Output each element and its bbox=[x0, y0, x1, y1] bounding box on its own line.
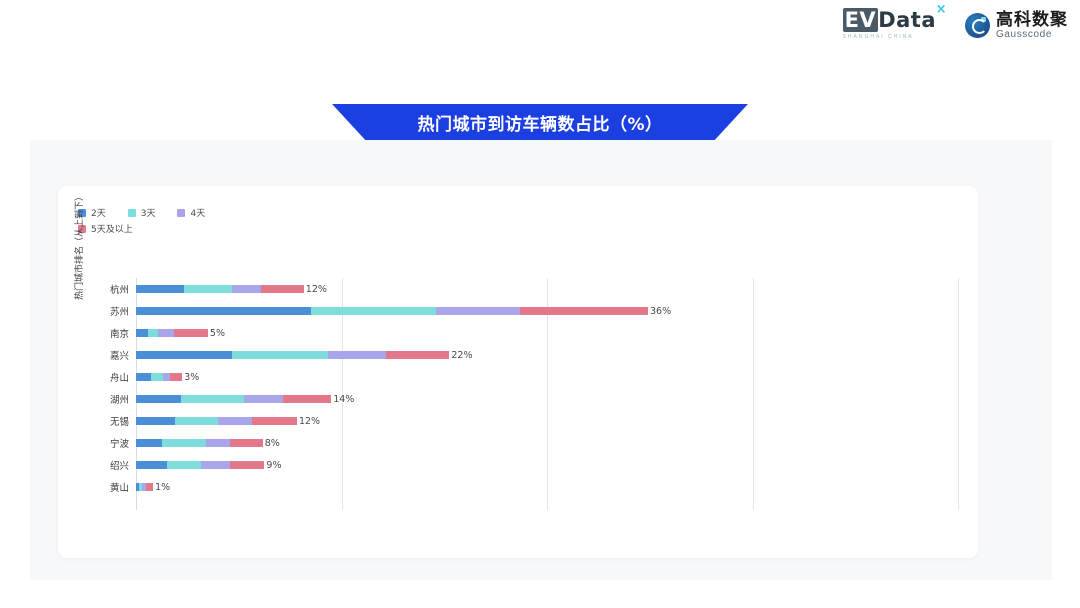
plot-area: 杭州12%苏州36%南京5%嘉兴22%舟山3%湖州14%无锡12%宁波8%绍兴9… bbox=[136, 278, 958, 518]
evdata-wordmark: EVData× bbox=[843, 10, 936, 31]
bar-segment[interactable] bbox=[174, 329, 208, 337]
gausscode-logo: 高科数聚 Gausscode bbox=[965, 11, 1068, 40]
stacked-bar[interactable] bbox=[136, 285, 304, 293]
y-axis-label: 杭州 bbox=[110, 282, 129, 296]
bar-segment[interactable] bbox=[218, 417, 252, 425]
gausscode-en-text: Gausscode bbox=[996, 30, 1068, 40]
y-axis-title: 热门城市排名（从上到下） bbox=[72, 176, 85, 316]
stacked-bar[interactable] bbox=[136, 417, 297, 425]
stacked-bar[interactable] bbox=[136, 373, 182, 381]
stacked-bar[interactable] bbox=[136, 329, 208, 337]
title-ribbon: 热门城市到访车辆数占比（%） bbox=[332, 104, 748, 140]
bar-value-label: 22% bbox=[451, 350, 472, 361]
bar-segment[interactable] bbox=[181, 395, 244, 403]
bar-segment[interactable] bbox=[163, 373, 170, 381]
bar-segment[interactable] bbox=[184, 285, 232, 293]
y-axis-label: 湖州 bbox=[110, 392, 129, 406]
evdata-tagline: SHANGHAI CHINA bbox=[843, 34, 914, 40]
stacked-bar[interactable] bbox=[136, 461, 264, 469]
bar-segment[interactable] bbox=[136, 395, 181, 403]
bar-value-label: 8% bbox=[265, 438, 280, 449]
stacked-bar[interactable] bbox=[136, 439, 263, 447]
bar-segment[interactable] bbox=[146, 483, 153, 491]
bar-segment[interactable] bbox=[201, 461, 230, 469]
legend-swatch-3days bbox=[128, 209, 136, 217]
bar-segment[interactable] bbox=[136, 439, 162, 447]
legend-row-1: 2天 3天 4天 bbox=[78, 206, 338, 219]
bar-value-label: 9% bbox=[266, 460, 281, 471]
stacked-bar[interactable] bbox=[136, 395, 331, 403]
bar-segment[interactable] bbox=[386, 351, 449, 359]
bar-row[interactable]: 嘉兴22% bbox=[136, 344, 958, 366]
y-axis-label: 南京 bbox=[110, 326, 129, 340]
legend-label-5days-plus: 5天及以上 bbox=[91, 222, 133, 235]
bar-value-label: 1% bbox=[155, 482, 170, 493]
y-axis-label: 嘉兴 bbox=[110, 348, 129, 362]
bar-row[interactable]: 南京5% bbox=[136, 322, 958, 344]
bar-value-label: 14% bbox=[333, 394, 354, 405]
y-axis-label: 黄山 bbox=[110, 480, 129, 494]
bar-segment[interactable] bbox=[167, 461, 201, 469]
gausscode-cn-text: 高科数聚 bbox=[996, 11, 1068, 28]
bar-value-label: 5% bbox=[210, 328, 225, 339]
bar-segment[interactable] bbox=[232, 351, 328, 359]
bar-value-label: 36% bbox=[650, 306, 671, 317]
bar-segment[interactable] bbox=[158, 329, 173, 337]
legend-item-3days[interactable]: 3天 bbox=[128, 206, 156, 219]
bar-row[interactable]: 绍兴9% bbox=[136, 454, 958, 476]
stacked-bar[interactable] bbox=[136, 307, 648, 315]
bar-segment[interactable] bbox=[244, 395, 283, 403]
y-axis-label: 苏州 bbox=[110, 304, 129, 318]
bar-segment[interactable] bbox=[436, 307, 520, 315]
legend-row-2: 5天及以上 bbox=[78, 222, 338, 235]
y-axis-label: 舟山 bbox=[110, 370, 129, 384]
bar-segment[interactable] bbox=[328, 351, 386, 359]
stacked-bar[interactable] bbox=[136, 351, 449, 359]
page-title: 热门城市到访车辆数占比（%） bbox=[417, 110, 662, 135]
bar-segment[interactable] bbox=[148, 329, 158, 337]
bar-segment[interactable] bbox=[175, 417, 218, 425]
y-axis-label: 无锡 bbox=[110, 414, 129, 428]
logo-divider bbox=[950, 12, 951, 38]
bar-segment[interactable] bbox=[136, 307, 311, 315]
bar-segment[interactable] bbox=[170, 373, 182, 381]
bar-segment[interactable] bbox=[136, 417, 175, 425]
legend-label-2days: 2天 bbox=[91, 206, 106, 219]
y-axis-label: 绍兴 bbox=[110, 458, 129, 472]
legend-item-5days-plus[interactable]: 5天及以上 bbox=[78, 222, 133, 235]
chart-legend: 2天 3天 4天 5天及以上 bbox=[78, 206, 338, 238]
bar-segment[interactable] bbox=[136, 461, 167, 469]
bar-segment[interactable] bbox=[206, 439, 230, 447]
bar-segment[interactable] bbox=[230, 439, 263, 447]
gridline-48 bbox=[958, 278, 959, 510]
bar-rows: 杭州12%苏州36%南京5%嘉兴22%舟山3%湖州14%无锡12%宁波8%绍兴9… bbox=[136, 278, 958, 498]
stacked-bar[interactable] bbox=[136, 483, 153, 491]
bar-segment[interactable] bbox=[261, 285, 304, 293]
bar-segment[interactable] bbox=[520, 307, 648, 315]
bar-value-label: 3% bbox=[184, 372, 199, 383]
bar-row[interactable]: 黄山1% bbox=[136, 476, 958, 498]
gausscode-mark-icon bbox=[965, 13, 990, 38]
evdata-ev-text: EV bbox=[843, 8, 879, 32]
bar-segment[interactable] bbox=[136, 351, 232, 359]
legend-item-4days[interactable]: 4天 bbox=[177, 206, 205, 219]
bar-segment[interactable] bbox=[136, 329, 148, 337]
bar-segment[interactable] bbox=[230, 461, 264, 469]
bar-segment[interactable] bbox=[283, 395, 331, 403]
bar-value-label: 12% bbox=[299, 416, 320, 427]
bar-segment[interactable] bbox=[136, 373, 151, 381]
legend-label-4days: 4天 bbox=[190, 206, 205, 219]
y-axis-label: 宁波 bbox=[110, 436, 129, 450]
evdata-x-icon: × bbox=[936, 3, 947, 16]
title-ribbon-shape: 热门城市到访车辆数占比（%） bbox=[332, 104, 748, 140]
bar-segment[interactable] bbox=[311, 307, 436, 315]
gausscode-wordmark: 高科数聚 Gausscode bbox=[996, 11, 1068, 40]
bar-row[interactable]: 湖州14% bbox=[136, 388, 958, 410]
bar-value-label: 12% bbox=[306, 284, 327, 295]
bar-row[interactable]: 无锡12% bbox=[136, 410, 958, 432]
logo-group: EVData× SHANGHAI CHINA 高科数聚 Gausscode bbox=[843, 10, 1068, 40]
evdata-logo: EVData× SHANGHAI CHINA bbox=[843, 10, 936, 40]
legend-swatch-4days bbox=[177, 209, 185, 217]
bar-segment[interactable] bbox=[232, 285, 261, 293]
bar-row[interactable]: 杭州12% bbox=[136, 278, 958, 300]
page-header: EVData× SHANGHAI CHINA 高科数聚 Gausscode bbox=[0, 0, 1080, 58]
evdata-data-text: Data bbox=[878, 8, 936, 32]
bar-segment[interactable] bbox=[162, 439, 207, 447]
bar-row[interactable]: 宁波8% bbox=[136, 432, 958, 454]
bar-row[interactable]: 苏州36% bbox=[136, 300, 958, 322]
bar-segment[interactable] bbox=[136, 285, 184, 293]
bar-row[interactable]: 舟山3% bbox=[136, 366, 958, 388]
stacked-bar-chart: 热门城市排名（从上到下） 杭州12%苏州36%南京5%嘉兴22%舟山3%湖州14… bbox=[78, 278, 958, 518]
legend-label-3days: 3天 bbox=[141, 206, 156, 219]
bar-segment[interactable] bbox=[252, 417, 297, 425]
bar-segment[interactable] bbox=[151, 373, 163, 381]
